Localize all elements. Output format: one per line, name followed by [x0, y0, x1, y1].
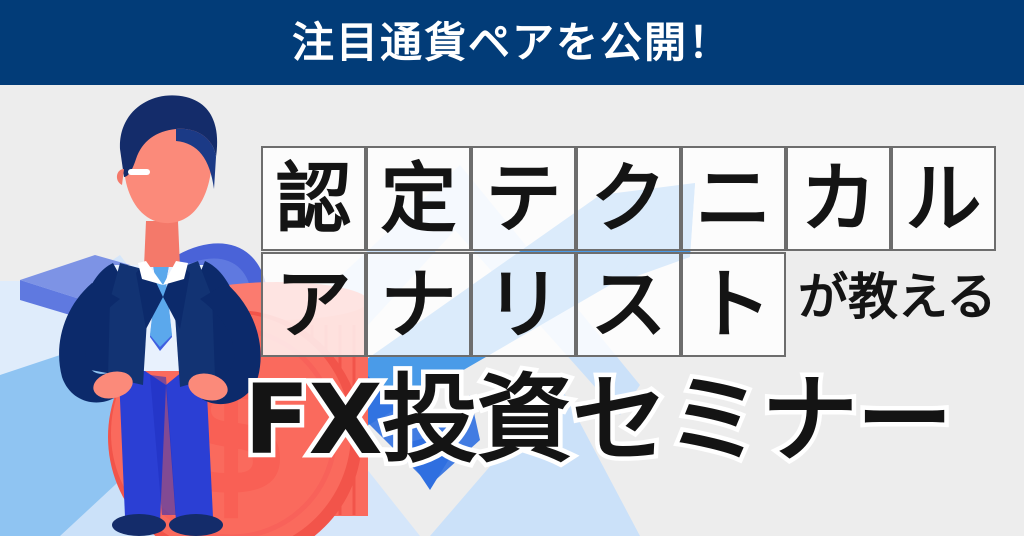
char-box: ア [261, 252, 366, 357]
char-box: テ [471, 146, 576, 251]
char-box: 認 [261, 146, 366, 251]
title-row-1: 認 定 テ ク ニ カ ル [261, 146, 996, 251]
char-box: ニ [681, 146, 786, 251]
title-row-2: ア ナ リ ス ト [261, 252, 786, 357]
suffix-label: が教える [798, 272, 997, 322]
char-box: カ [786, 146, 891, 251]
char-box: リ [471, 252, 576, 357]
char-box: ト [681, 252, 786, 357]
char-box: 定 [366, 146, 471, 251]
char-box: ス [576, 252, 681, 357]
top-ribbon: 注目通貨ペアを公開！ [0, 0, 1024, 85]
char-box: ク [576, 146, 681, 251]
char-box: ナ [366, 252, 471, 357]
fx-seminar-banner: $ [0, 0, 1024, 536]
headline-text: FX投資セミナー [244, 372, 952, 468]
char-box: ル [891, 146, 996, 251]
top-ribbon-text: 注目通貨ペアを公開！ [292, 22, 732, 64]
